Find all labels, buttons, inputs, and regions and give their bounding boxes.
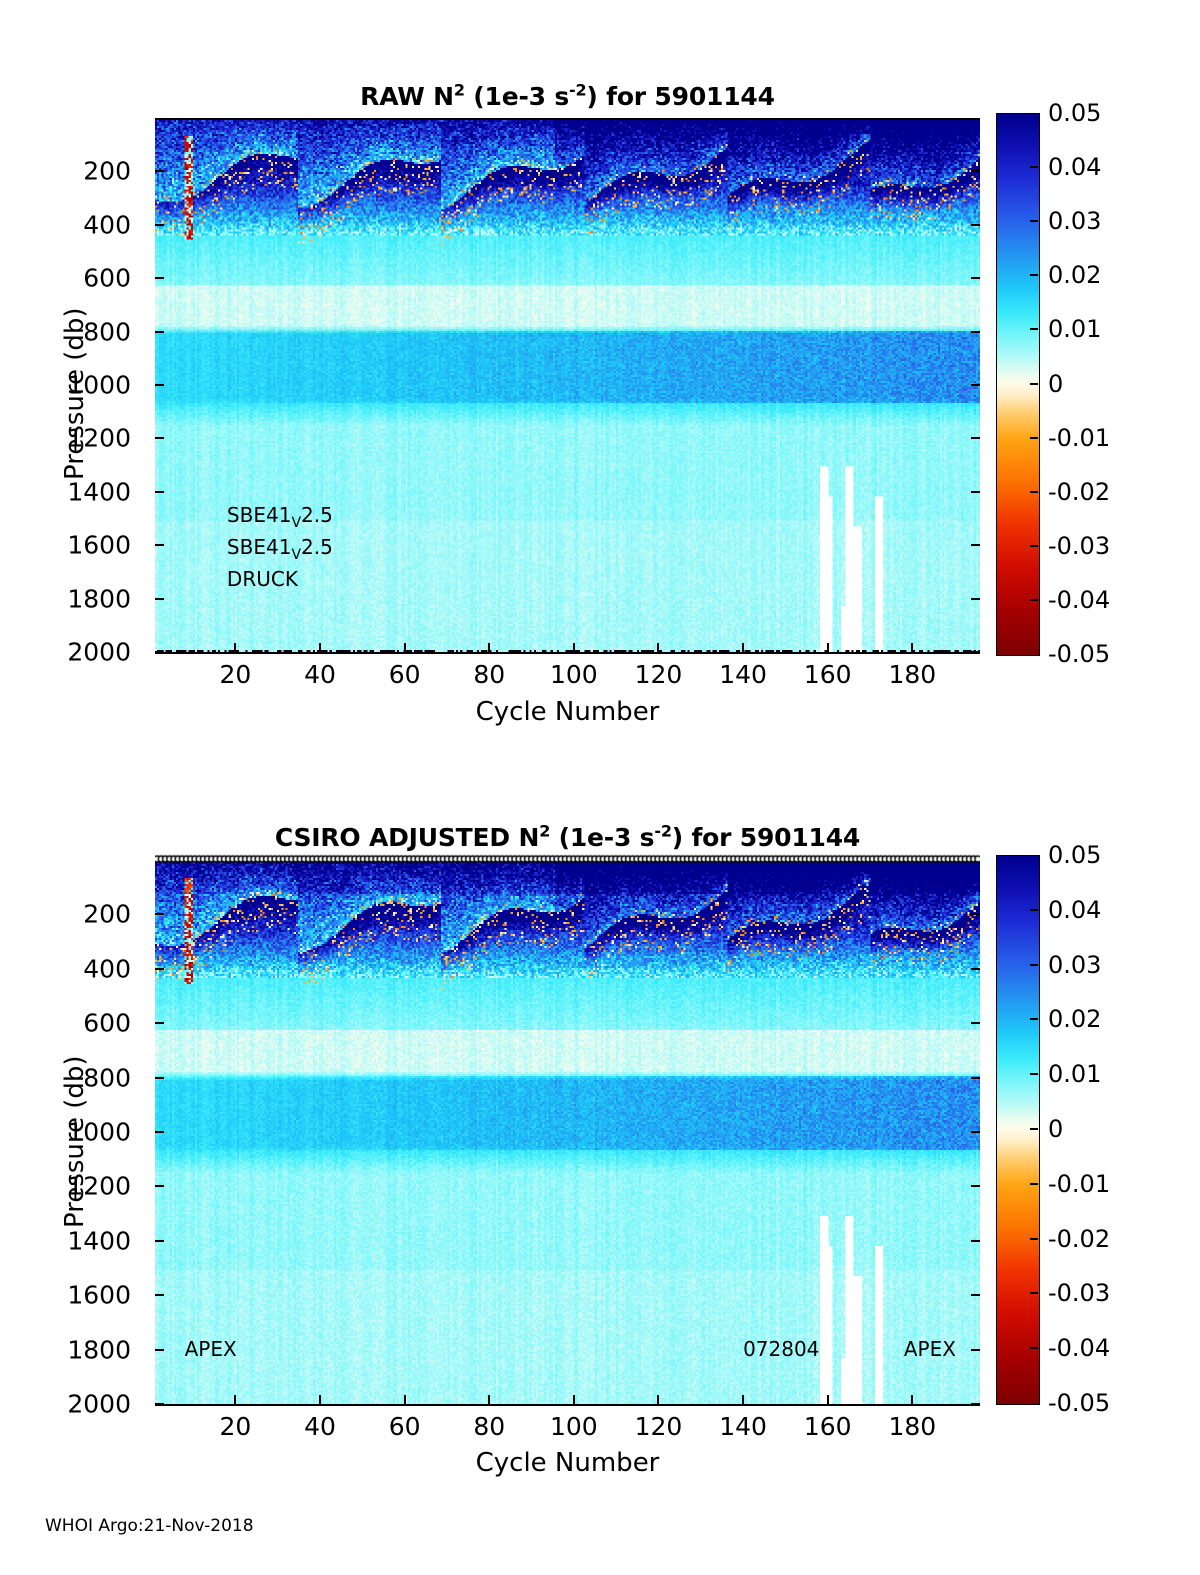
x-axis-line-raw bbox=[155, 652, 980, 654]
figure-footer: WHOI Argo:21-Nov-2018 bbox=[45, 1516, 254, 1536]
title-superscript-2: -2 bbox=[654, 822, 671, 841]
title-superscript-1: 2 bbox=[539, 822, 550, 841]
colorbar-tick-mark bbox=[1030, 274, 1038, 276]
colorbar-raw bbox=[996, 113, 1040, 656]
y-tick-mark-right bbox=[971, 968, 980, 970]
annotation-text: 072804 bbox=[743, 1337, 819, 1361]
y-axis-label-raw: Pressure (db) bbox=[60, 307, 90, 480]
y-tick-mark bbox=[155, 170, 164, 172]
x-axis-label-adjusted: Cycle Number bbox=[155, 1448, 980, 1478]
qc-flag-marker-row bbox=[155, 852, 980, 866]
colorbar-tick-label: 0.04 bbox=[1048, 896, 1101, 924]
y-tick-mark-right bbox=[971, 384, 980, 386]
colorbar-tick-label: -0.03 bbox=[1048, 532, 1110, 560]
y-tick-mark bbox=[155, 1294, 164, 1296]
plot-annotation: APEX bbox=[185, 1337, 237, 1361]
annotation-text: SBE41 bbox=[227, 535, 292, 559]
x-tick-mark bbox=[404, 1395, 406, 1404]
colorbar-tick-label: -0.02 bbox=[1048, 478, 1110, 506]
colorbar-tick-label: 0.05 bbox=[1048, 99, 1101, 127]
y-tick-label: 200 bbox=[35, 900, 131, 929]
y-tick-label: 200 bbox=[35, 157, 131, 186]
colorbar-tick-label: 0.03 bbox=[1048, 207, 1101, 235]
x-axis-line-adjusted bbox=[155, 1404, 980, 1406]
x-tick-mark bbox=[573, 643, 575, 652]
colorbar-tick-label: -0.05 bbox=[1048, 1389, 1110, 1417]
y-tick-mark-right bbox=[971, 1403, 980, 1405]
colorbar-tick-label: 0.05 bbox=[1048, 841, 1101, 869]
x-tick-mark bbox=[488, 643, 490, 652]
plot-annotation: DRUCK bbox=[227, 567, 298, 591]
title-text-mid: (1e-3 s bbox=[465, 82, 569, 111]
y-tick-label: 1600 bbox=[35, 1281, 131, 1310]
colorbar-tick-mark bbox=[1030, 437, 1038, 439]
x-tick-label: 120 bbox=[635, 660, 683, 689]
panel-adjusted: CSIRO ADJUSTED N2 (1e-3 s-2) for 5901144… bbox=[0, 748, 1200, 1478]
x-tick-mark bbox=[657, 1395, 659, 1404]
colorbar-tick-label: 0 bbox=[1048, 370, 1063, 398]
colorbar-tick-label: 0.01 bbox=[1048, 1060, 1101, 1088]
x-tick-label: 160 bbox=[804, 660, 852, 689]
x-tick-label: 20 bbox=[219, 1412, 251, 1441]
plot-annotation: SBE41V2.5 bbox=[227, 535, 333, 559]
colorbar-tick-mark bbox=[1030, 1128, 1038, 1130]
colorbar-tick-label: -0.04 bbox=[1048, 1334, 1110, 1362]
colorbar-tick-label: 0.03 bbox=[1048, 951, 1101, 979]
y-tick-mark-right bbox=[971, 1294, 980, 1296]
x-tick-mark bbox=[234, 643, 236, 652]
x-tick-mark bbox=[827, 643, 829, 652]
x-axis-label-raw: Cycle Number bbox=[155, 697, 980, 727]
annotation-subscript: V bbox=[291, 515, 301, 531]
x-tick-label: 140 bbox=[719, 1412, 767, 1441]
colorbar-tick-label: -0.01 bbox=[1048, 424, 1110, 452]
y-tick-label: 1800 bbox=[35, 1335, 131, 1364]
y-tick-label: 400 bbox=[35, 954, 131, 983]
annotation-text-post: 2.5 bbox=[301, 535, 333, 559]
y-tick-mark bbox=[155, 544, 164, 546]
y-tick-mark bbox=[155, 1185, 164, 1187]
colorbar-tick-mark bbox=[1030, 383, 1038, 385]
x-tick-label: 40 bbox=[304, 1412, 336, 1441]
y-tick-mark bbox=[155, 598, 164, 600]
x-tick-mark bbox=[319, 643, 321, 652]
annotation-subscript: V bbox=[291, 547, 301, 563]
y-tick-mark-right bbox=[971, 437, 980, 439]
colorbar-tick-label: -0.03 bbox=[1048, 1279, 1110, 1307]
colorbar-tick-label: 0.02 bbox=[1048, 261, 1101, 289]
x-tick-label: 100 bbox=[550, 1412, 598, 1441]
x-tick-label: 40 bbox=[304, 660, 336, 689]
colorbar-adjusted bbox=[996, 855, 1040, 1405]
x-tick-label: 160 bbox=[804, 1412, 852, 1441]
colorbar-tick-mark bbox=[1030, 1073, 1038, 1075]
x-tick-label: 180 bbox=[888, 660, 936, 689]
x-tick-mark bbox=[827, 1395, 829, 1404]
x-tick-mark bbox=[911, 643, 913, 652]
colorbar-tick-mark bbox=[1030, 1292, 1038, 1294]
colorbar-tick-mark bbox=[1030, 1238, 1038, 1240]
colorbar-tick-mark bbox=[1030, 599, 1038, 601]
annotation-text: SBE41 bbox=[227, 503, 292, 527]
annotation-text: APEX bbox=[904, 1337, 956, 1361]
colorbar-tick-mark bbox=[1030, 1347, 1038, 1349]
y-tick-mark bbox=[155, 1077, 164, 1079]
heatmap-axes-adjusted[interactable] bbox=[155, 860, 980, 1406]
annotation-text: DRUCK bbox=[227, 567, 298, 591]
y-tick-mark-right bbox=[971, 1022, 980, 1024]
x-tick-mark bbox=[404, 643, 406, 652]
colorbar-tick-mark bbox=[1030, 328, 1038, 330]
colorbar-tick-label: 0.04 bbox=[1048, 153, 1101, 181]
y-tick-mark-right bbox=[971, 1131, 980, 1133]
x-tick-label: 60 bbox=[389, 1412, 421, 1441]
y-tick-mark-right bbox=[971, 1349, 980, 1351]
y-tick-label: 2000 bbox=[35, 638, 131, 667]
y-tick-label: 1400 bbox=[35, 1226, 131, 1255]
x-tick-mark bbox=[742, 1395, 744, 1404]
y-tick-label: 400 bbox=[35, 210, 131, 239]
x-tick-mark bbox=[911, 1395, 913, 1404]
x-tick-mark bbox=[488, 1395, 490, 1404]
panel-raw-title: RAW N2 (1e-3 s-2) for 5901144 bbox=[155, 82, 980, 111]
y-tick-mark-right bbox=[971, 170, 980, 172]
y-tick-label: 1800 bbox=[35, 584, 131, 613]
y-tick-label: 1600 bbox=[35, 531, 131, 560]
colorbar-tick-label: -0.05 bbox=[1048, 640, 1110, 668]
title-superscript-2: -2 bbox=[569, 81, 586, 100]
x-tick-mark bbox=[234, 1395, 236, 1404]
x-tick-label: 80 bbox=[473, 1412, 505, 1441]
x-tick-label: 80 bbox=[473, 660, 505, 689]
y-tick-mark-right bbox=[971, 224, 980, 226]
colorbar-tick-mark bbox=[1030, 491, 1038, 493]
y-tick-mark bbox=[155, 331, 164, 333]
x-tick-mark bbox=[742, 643, 744, 652]
y-tick-mark-right bbox=[971, 1185, 980, 1187]
title-superscript-1: 2 bbox=[454, 81, 465, 100]
colorbar-tick-mark bbox=[1030, 1018, 1038, 1020]
plot-annotation: APEX bbox=[904, 1337, 956, 1361]
y-tick-mark bbox=[155, 437, 164, 439]
y-tick-mark-right bbox=[971, 277, 980, 279]
y-tick-mark bbox=[155, 651, 164, 653]
title-text-main: RAW N bbox=[360, 82, 454, 111]
y-tick-mark bbox=[155, 1349, 164, 1351]
y-tick-mark bbox=[155, 968, 164, 970]
y-tick-mark bbox=[155, 1131, 164, 1133]
colorbar-tick-label: 0.02 bbox=[1048, 1005, 1101, 1033]
colorbar-tick-mark bbox=[1030, 220, 1038, 222]
colorbar-tick-label: -0.02 bbox=[1048, 1225, 1110, 1253]
y-tick-mark-right bbox=[971, 651, 980, 653]
colorbar-tick-mark bbox=[1030, 545, 1038, 547]
y-tick-mark bbox=[155, 1240, 164, 1242]
x-tick-label: 100 bbox=[550, 660, 598, 689]
y-tick-label: 2000 bbox=[35, 1390, 131, 1419]
y-tick-mark bbox=[155, 913, 164, 915]
plot-annotation: 072804 bbox=[743, 1337, 819, 1361]
colorbar-tick-label: -0.01 bbox=[1048, 1170, 1110, 1198]
y-tick-mark bbox=[155, 277, 164, 279]
y-tick-label: 600 bbox=[35, 264, 131, 293]
title-text-end: ) for 5901144 bbox=[586, 82, 774, 111]
y-tick-mark-right bbox=[971, 331, 980, 333]
x-tick-label: 20 bbox=[219, 660, 251, 689]
y-tick-mark-right bbox=[971, 598, 980, 600]
colorbar-tick-mark bbox=[1030, 909, 1038, 911]
y-tick-mark-right bbox=[971, 491, 980, 493]
x-tick-label: 120 bbox=[635, 1412, 683, 1441]
y-tick-mark-right bbox=[971, 913, 980, 915]
y-tick-label: 1400 bbox=[35, 477, 131, 506]
x-tick-label: 60 bbox=[389, 660, 421, 689]
x-tick-mark bbox=[319, 1395, 321, 1404]
title-text-mid: (1e-3 s bbox=[550, 823, 654, 852]
annotation-text-post: 2.5 bbox=[301, 503, 333, 527]
x-tick-mark bbox=[573, 1395, 575, 1404]
heatmap-image-adjusted bbox=[155, 862, 980, 1406]
y-tick-mark bbox=[155, 491, 164, 493]
annotation-text: APEX bbox=[185, 1337, 237, 1361]
y-tick-mark bbox=[155, 1403, 164, 1405]
colorbar-tick-mark bbox=[1030, 1183, 1038, 1185]
y-axis-label-adjusted: Pressure (db) bbox=[60, 1055, 90, 1228]
y-tick-mark bbox=[155, 224, 164, 226]
y-tick-mark bbox=[155, 384, 164, 386]
plot-annotation: SBE41V2.5 bbox=[227, 503, 333, 527]
title-text-end: ) for 5901144 bbox=[672, 823, 860, 852]
y-tick-mark-right bbox=[971, 544, 980, 546]
colorbar-tick-mark bbox=[1030, 964, 1038, 966]
colorbar-tick-label: -0.04 bbox=[1048, 586, 1110, 614]
panel-raw: RAW N2 (1e-3 s-2) for 5901144 2004006008… bbox=[0, 0, 1200, 760]
colorbar-tick-mark bbox=[1030, 166, 1038, 168]
x-tick-mark bbox=[657, 643, 659, 652]
x-tick-label: 180 bbox=[888, 1412, 936, 1441]
y-tick-mark-right bbox=[971, 1077, 980, 1079]
colorbar-tick-label: 0 bbox=[1048, 1115, 1063, 1143]
title-text-main: CSIRO ADJUSTED N bbox=[275, 823, 539, 852]
x-tick-label: 140 bbox=[719, 660, 767, 689]
y-tick-label: 600 bbox=[35, 1009, 131, 1038]
colorbar-tick-label: 0.01 bbox=[1048, 315, 1101, 343]
y-tick-mark bbox=[155, 1022, 164, 1024]
y-tick-mark-right bbox=[971, 1240, 980, 1242]
panel-adjusted-title: CSIRO ADJUSTED N2 (1e-3 s-2) for 5901144 bbox=[155, 823, 980, 852]
